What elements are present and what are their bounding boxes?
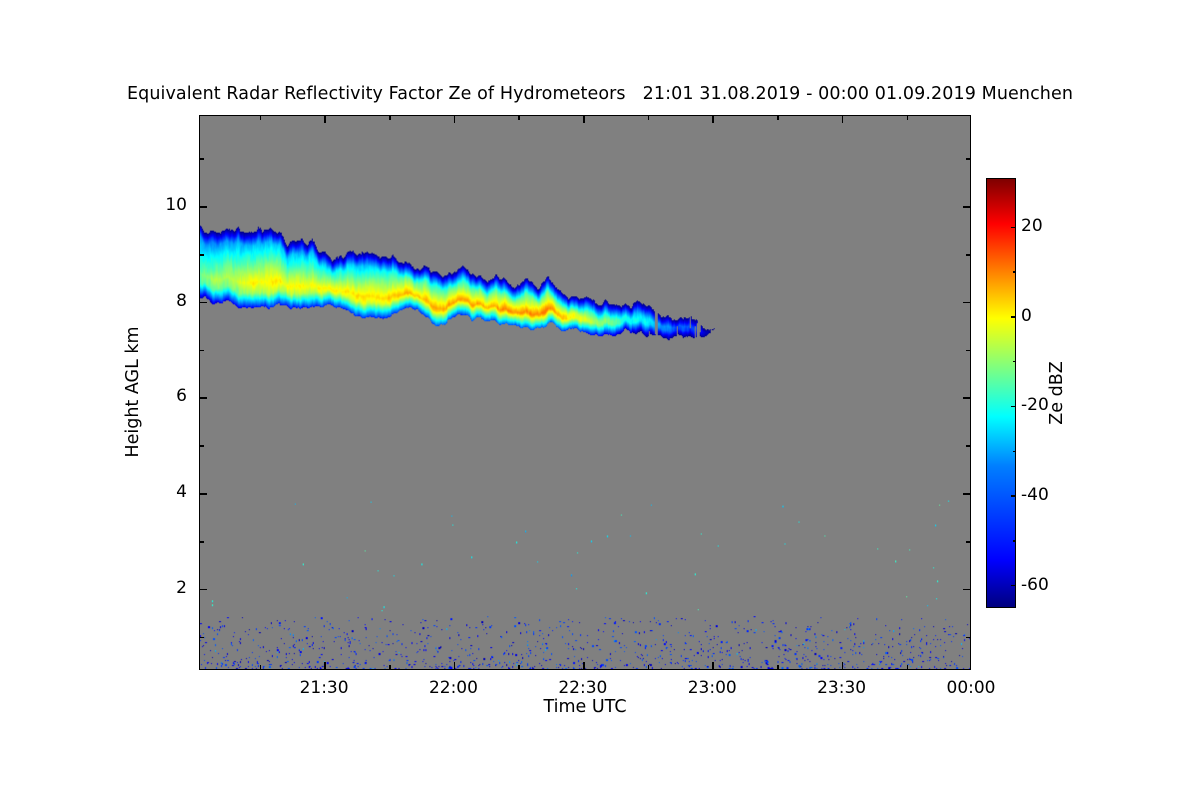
y-tick-minor-right: [966, 350, 970, 352]
colorbar-tick-minor: [1013, 540, 1016, 541]
colorbar-tick-label: 20: [1021, 216, 1043, 236]
x-tick-minor-top: [518, 116, 520, 120]
colorbar-tick-minor: [1013, 271, 1016, 272]
colorbar-tick-major: [1011, 316, 1016, 317]
x-tick-major: [454, 662, 456, 669]
y-tick-minor: [200, 637, 204, 639]
colorbar-tick-label: -60: [1021, 575, 1049, 595]
colorbar-tick-major: [1011, 406, 1016, 407]
colorbar-tick-label: -40: [1021, 485, 1049, 505]
x-tick-major: [712, 662, 714, 669]
y-tick-major-right: [963, 206, 970, 208]
x-tick-minor: [907, 665, 909, 669]
y-tick-major-right: [963, 493, 970, 495]
colorbar-tick-major: [1011, 495, 1016, 496]
y-tick-major: [200, 493, 207, 495]
y-tick-label: 2: [137, 578, 187, 598]
x-tick-minor-top: [389, 116, 391, 120]
x-tick-major: [583, 662, 585, 669]
y-tick-minor: [200, 445, 204, 447]
x-tick-major-top: [712, 116, 714, 123]
colorbar-axis-title: Ze dBZ: [1047, 361, 1067, 424]
radar-reflectivity-figure: Equivalent Radar Reflectivity Factor Ze …: [0, 0, 1200, 800]
x-tick-major-top: [454, 116, 456, 123]
y-tick-major: [200, 589, 207, 591]
x-tick-minor: [260, 665, 262, 669]
y-tick-label: 4: [137, 482, 187, 502]
colorbar-tick-minor: [1013, 361, 1016, 362]
x-tick-major: [842, 662, 844, 669]
y-tick-minor-right: [966, 637, 970, 639]
x-tick-major-top: [324, 116, 326, 123]
reflectivity-heatmap-canvas: [200, 116, 970, 669]
y-tick-minor: [200, 541, 204, 543]
chart-title: Equivalent Radar Reflectivity Factor Ze …: [0, 84, 1200, 104]
colorbar-tick-major: [1011, 227, 1016, 228]
y-tick-minor-right: [966, 158, 970, 160]
colorbar-gradient: [986, 178, 1016, 608]
colorbar-tick-minor: [1013, 451, 1016, 452]
y-tick-major: [200, 302, 207, 304]
x-tick-minor-top: [777, 116, 779, 120]
x-tick-label: 00:00: [921, 678, 1021, 698]
y-tick-major-right: [963, 589, 970, 591]
y-tick-minor: [200, 350, 204, 352]
x-tick-minor-top: [907, 116, 909, 120]
y-tick-major-right: [963, 397, 970, 399]
y-tick-major: [200, 397, 207, 399]
y-tick-major: [200, 206, 207, 208]
x-tick-major: [324, 662, 326, 669]
y-tick-minor-right: [966, 254, 970, 256]
y-tick-major-right: [963, 302, 970, 304]
y-tick-minor-right: [966, 445, 970, 447]
x-tick-major-top: [583, 116, 585, 123]
y-tick-label: 10: [137, 195, 187, 215]
colorbar-tick-label: 0: [1021, 306, 1032, 326]
colorbar: [986, 178, 1016, 608]
x-tick-label: 23:30: [792, 678, 892, 698]
y-tick-minor: [200, 158, 204, 160]
y-axis-title: Height AGL km: [123, 326, 143, 457]
colorbar-tick-label: -20: [1021, 395, 1049, 415]
plot-area: [199, 115, 971, 670]
x-tick-minor-top: [260, 116, 262, 120]
x-tick-major-top: [842, 116, 844, 123]
colorbar-tick-major: [1011, 585, 1016, 586]
x-tick-minor: [518, 665, 520, 669]
x-tick-minor: [777, 665, 779, 669]
x-tick-label: 22:30: [533, 678, 633, 698]
x-tick-minor-top: [648, 116, 650, 120]
x-tick-minor: [389, 665, 391, 669]
x-tick-minor: [648, 665, 650, 669]
y-tick-minor: [200, 254, 204, 256]
x-tick-label: 23:00: [662, 678, 762, 698]
y-tick-minor-right: [966, 541, 970, 543]
y-tick-label: 6: [137, 386, 187, 406]
y-tick-label: 8: [137, 291, 187, 311]
x-tick-label: 22:00: [403, 678, 503, 698]
x-tick-label: 21:30: [274, 678, 374, 698]
x-axis-title: Time UTC: [199, 697, 971, 717]
